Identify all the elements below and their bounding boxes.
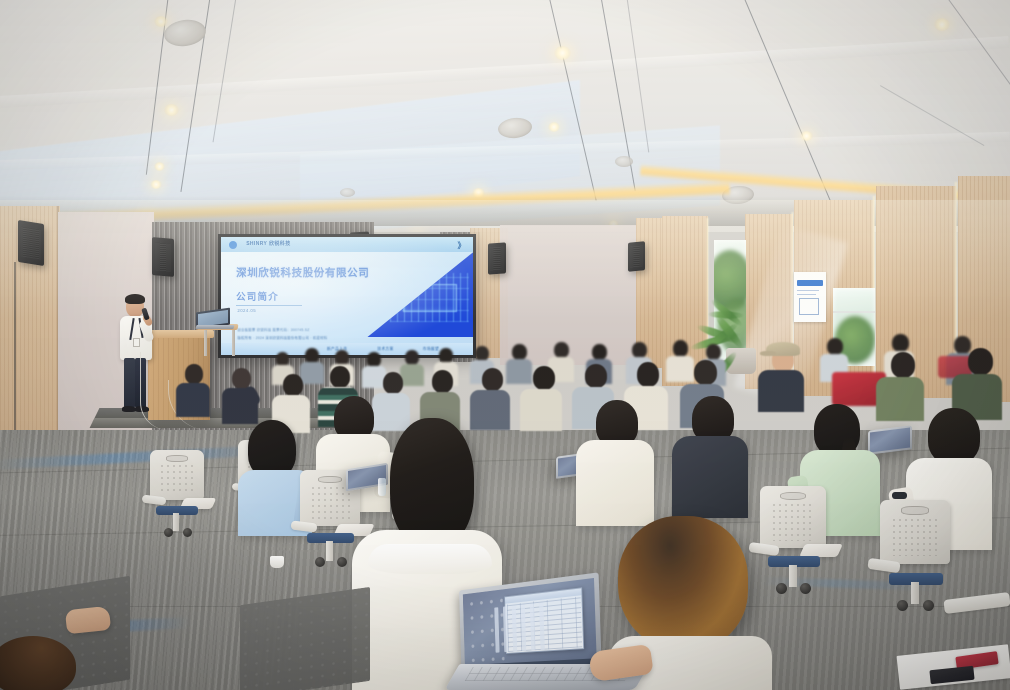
downlight xyxy=(934,18,950,31)
attendee xyxy=(222,368,258,418)
slide-subtitle: 公司简介 xyxy=(236,289,279,303)
hair xyxy=(928,408,980,464)
slide-logo-text: SHINRY 欣锐科技 xyxy=(246,240,290,247)
downlight xyxy=(154,162,165,171)
attendee xyxy=(470,368,510,424)
speaker-cable xyxy=(14,262,16,458)
attendee xyxy=(520,366,562,424)
wall-speaker-far-right xyxy=(628,241,645,271)
projector-screen: SHINRY 欣锐科技 》 深圳欣锐科技股份有限公司 公司简介 2024.05 … xyxy=(221,237,473,355)
attendee xyxy=(272,374,310,426)
slide-divider xyxy=(236,305,302,306)
wall-notice-poster xyxy=(794,272,826,322)
ceiling-seam xyxy=(213,0,237,142)
attendee xyxy=(876,352,924,416)
ceiling-seam xyxy=(626,0,649,152)
slide-corner-mark: 》 xyxy=(457,240,465,251)
window-mullion xyxy=(833,311,875,313)
chair-handle xyxy=(901,506,929,514)
slide-date: 2024.05 xyxy=(237,308,256,313)
hand xyxy=(65,606,111,634)
cap-brim xyxy=(760,351,776,356)
smartwatch xyxy=(892,492,907,499)
slide-building-lineart xyxy=(390,273,468,322)
downlight xyxy=(800,131,813,141)
wall-speaker-center xyxy=(488,242,506,274)
chair-handle xyxy=(318,476,342,483)
poster-line xyxy=(797,294,816,295)
downlight xyxy=(554,46,571,60)
conference-room-photo: SHINRY 欣锐科技 》 深圳欣锐科技股份有限公司 公司简介 2024.05 … xyxy=(0,0,1010,690)
chair-perforation xyxy=(310,485,351,520)
podium-laptop-base xyxy=(196,325,235,329)
ceiling-speaker xyxy=(615,156,633,167)
slide-fine-line: 创业板股票 欣锐科技 股票代码：300745.SZ xyxy=(237,327,309,332)
downlight xyxy=(150,180,162,189)
chair xyxy=(880,500,950,612)
attendee-with-cap xyxy=(758,342,804,408)
desktop-icons xyxy=(466,593,504,665)
badge xyxy=(133,338,140,347)
chair-perforation xyxy=(891,517,939,557)
shirt xyxy=(576,440,654,526)
tshirt xyxy=(672,436,748,518)
downlight xyxy=(154,16,168,27)
wall-speaker-left xyxy=(18,220,44,266)
slide-fine-line: 版权所有 · 2024 深圳欣锐科技股份有限公司 · 机密材料 xyxy=(237,335,327,340)
ceiling-seam xyxy=(944,0,1010,115)
presenter-leg xyxy=(124,358,135,408)
blouse-ruffle xyxy=(368,544,492,574)
podium-leg xyxy=(232,330,235,356)
presenter-hair xyxy=(125,294,145,304)
attendee xyxy=(176,364,210,412)
desk-surface xyxy=(240,587,370,690)
ceiling-speaker xyxy=(162,17,207,49)
poster-line xyxy=(797,290,819,291)
poster-header-band xyxy=(797,280,824,286)
slide-title: 深圳欣锐科技股份有限公司 xyxy=(236,265,369,280)
slide-accent-triangle xyxy=(367,252,473,337)
paper-cup xyxy=(270,556,284,568)
poster-diagram xyxy=(799,298,819,315)
slide-header-bar: SHINRY 欣锐科技 》 xyxy=(221,237,473,252)
chair xyxy=(150,450,204,536)
downlight xyxy=(548,122,560,132)
podium-leg xyxy=(204,330,207,356)
hair xyxy=(390,418,474,548)
chair-handle xyxy=(780,492,806,500)
chair-handle xyxy=(166,455,188,462)
downlight xyxy=(164,104,179,116)
chair-perforation xyxy=(159,463,196,494)
presenter-shoe xyxy=(122,406,136,412)
shinry-logo-icon xyxy=(229,241,237,249)
attendee-dark-top xyxy=(672,396,748,532)
wall-speaker-podium xyxy=(152,237,174,277)
laptop-screen xyxy=(463,578,597,671)
attendee xyxy=(952,348,1002,416)
chair-perforation xyxy=(771,502,816,540)
